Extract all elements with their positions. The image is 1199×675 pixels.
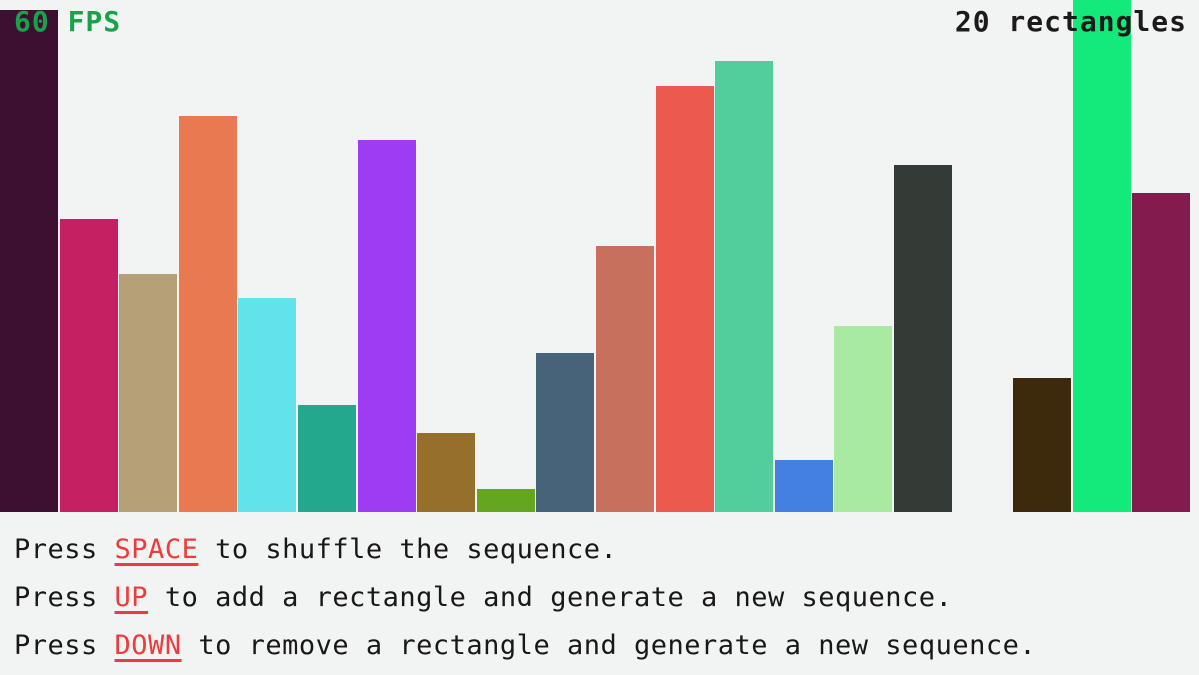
- instruction-line: Press DOWN to remove a rectangle and gen…: [14, 622, 1199, 670]
- instruction-prefix: Press: [14, 534, 115, 565]
- instruction-suffix: to add a rectangle and generate a new se…: [148, 582, 952, 613]
- instruction-key-down[interactable]: DOWN: [115, 630, 182, 661]
- bar-rectangle: [358, 140, 416, 512]
- bar-rectangle: [536, 353, 594, 512]
- instruction-suffix: to shuffle the sequence.: [198, 534, 617, 565]
- instruction-key-space[interactable]: SPACE: [115, 534, 199, 565]
- bar-rectangle: [834, 326, 892, 512]
- bar-rectangle: [1132, 193, 1190, 512]
- bar-rectangle: [1073, 0, 1131, 512]
- bar-rectangle: [60, 219, 118, 512]
- bar-rectangle: [775, 460, 833, 512]
- bar-rectangle: [596, 246, 654, 512]
- rectangle-sequence-app: 60 FPS 20 rectangles Press SPACE to shuf…: [0, 0, 1199, 675]
- bar-rectangle: [656, 86, 714, 512]
- instruction-suffix: to remove a rectangle and generate a new…: [182, 630, 1037, 661]
- bar-rectangle: [298, 405, 356, 512]
- bar-rectangle: [179, 116, 237, 512]
- bar-rectangle: [477, 489, 535, 512]
- instructions-panel: Press SPACE to shuffle the sequence.Pres…: [0, 512, 1199, 675]
- fps-counter: 60 FPS: [14, 8, 121, 36]
- bar-rectangle: [1013, 378, 1071, 512]
- instruction-prefix: Press: [14, 630, 115, 661]
- rectangle-count-label: 20 rectangles: [955, 8, 1187, 36]
- rectangle-chart-canvas: [0, 0, 1199, 512]
- instruction-key-up[interactable]: UP: [115, 582, 149, 613]
- bar-rectangle: [119, 274, 177, 512]
- bar-rectangle: [238, 298, 296, 512]
- bar-rectangle: [417, 433, 475, 512]
- instruction-line: Press SPACE to shuffle the sequence.: [14, 526, 1199, 574]
- bar-rectangle: [715, 61, 773, 512]
- instruction-prefix: Press: [14, 582, 115, 613]
- bar-rectangle: [894, 165, 952, 512]
- bar-rectangle: [0, 10, 58, 512]
- instruction-line: Press UP to add a rectangle and generate…: [14, 574, 1199, 622]
